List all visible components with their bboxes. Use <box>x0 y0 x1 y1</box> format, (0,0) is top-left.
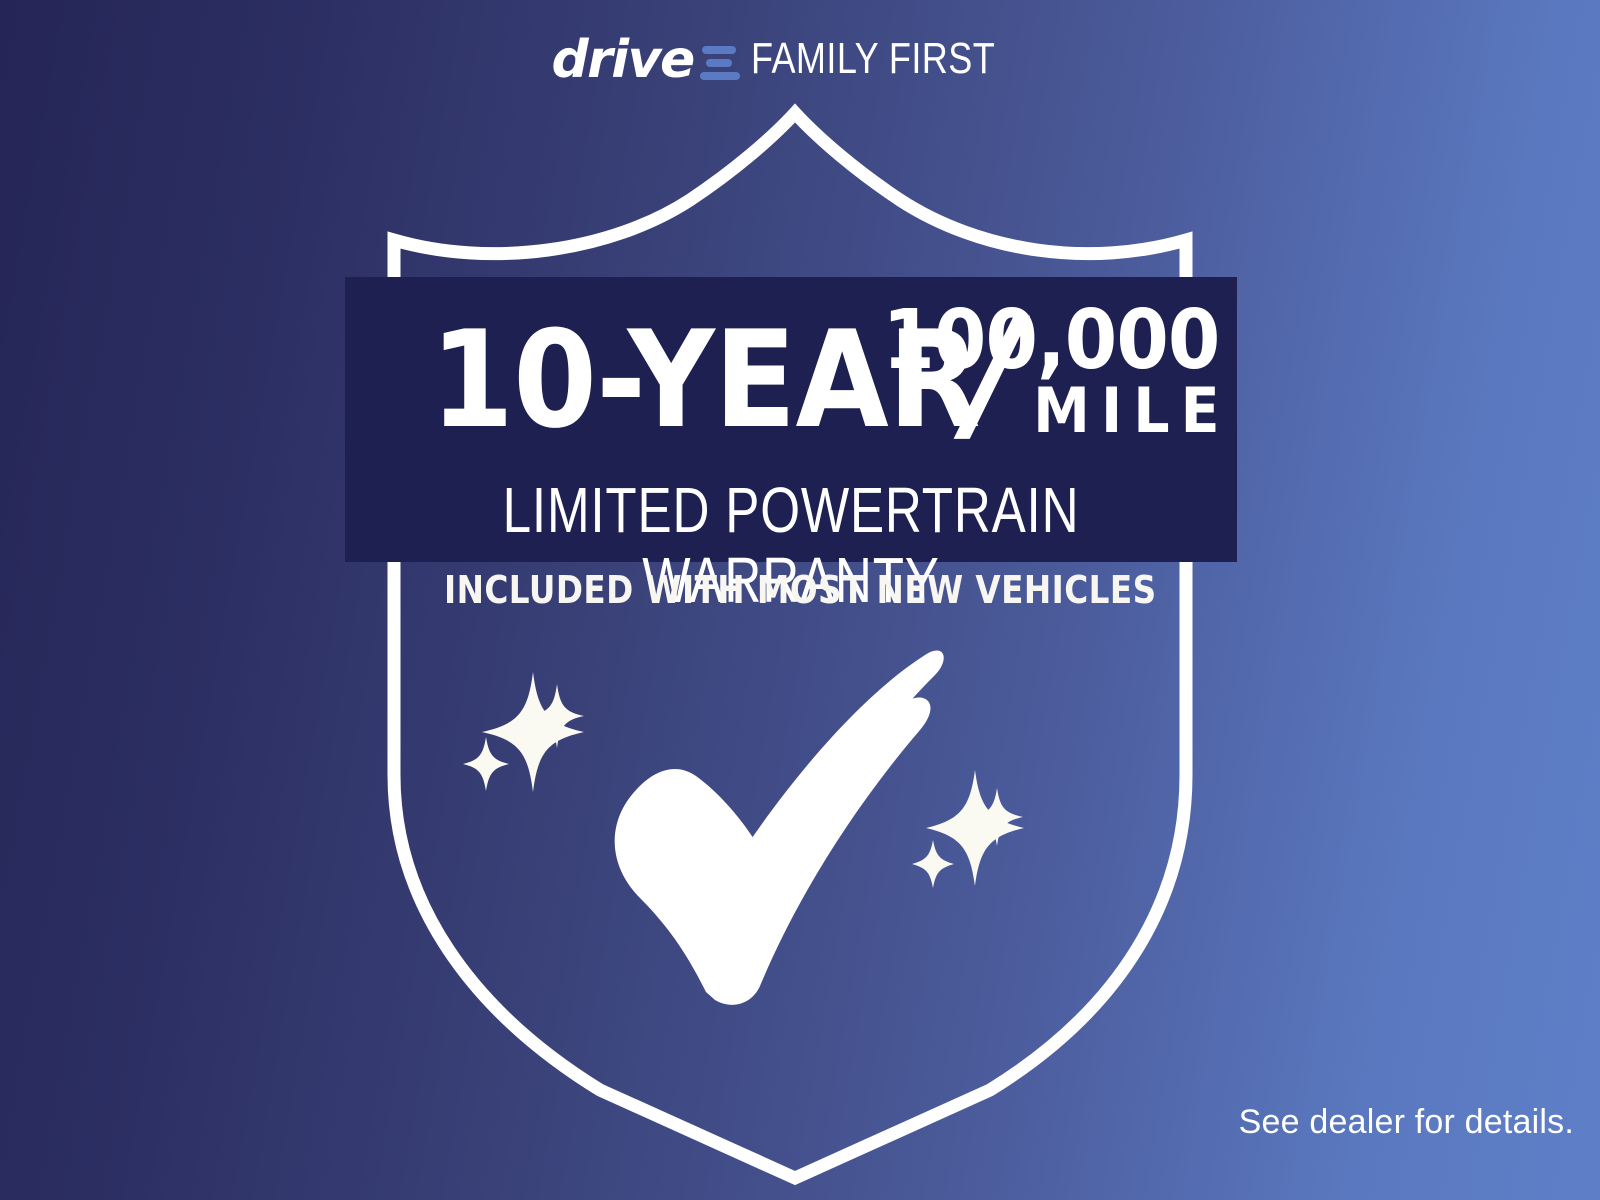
brand-tagline: FAMILY FIRST <box>751 34 995 84</box>
banner-headline-row: 10-YEAR / 100,000 MILE <box>345 277 1237 477</box>
warranty-banner: 10-YEAR / 100,000 MILE LIMITED POWERTRAI… <box>345 277 1237 562</box>
brand-header: drive FAMILY FIRST <box>0 28 1600 90</box>
included-note: INCLUDED WITH MOST NEW VEHICLES <box>0 568 1600 612</box>
checkmark-tail <box>745 651 944 890</box>
included-note-text: INCLUDED WITH MOST NEW VEHICLES <box>444 568 1157 612</box>
miles-number: 100,000 <box>882 303 1219 378</box>
disclaimer-text: See dealer for details. <box>1239 1103 1574 1142</box>
bar-top <box>702 46 736 54</box>
sparkle-icon <box>912 770 1024 888</box>
miles-group: 100,000 MILE <box>1009 303 1219 442</box>
miles-unit: MILE <box>1034 380 1231 442</box>
brand-wordmark: drive <box>551 34 693 86</box>
sparkle-icon <box>463 672 584 792</box>
bar-bottom <box>700 72 740 80</box>
bar-middle <box>706 59 732 67</box>
shield-path <box>394 113 1186 1178</box>
three-bars-icon <box>700 46 740 80</box>
